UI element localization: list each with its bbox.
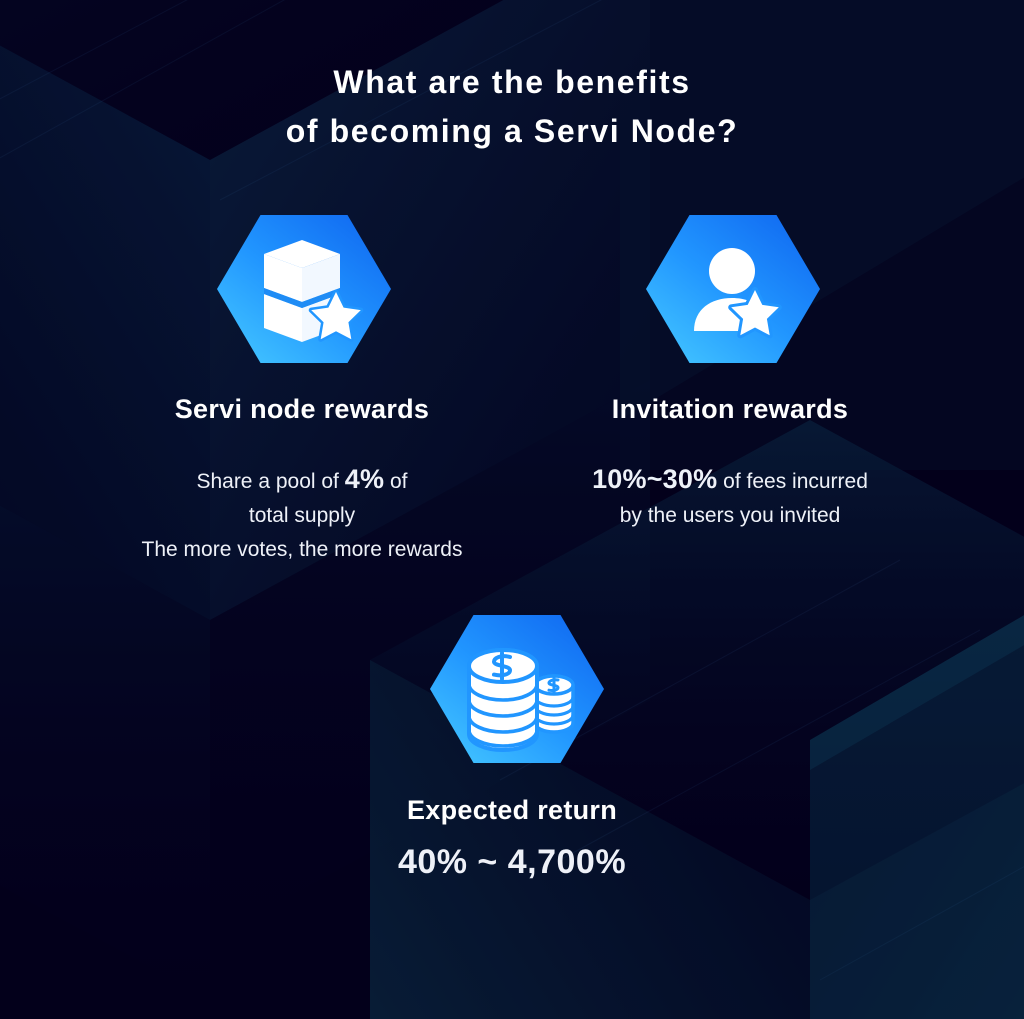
card-body-line: by the users you invited <box>428 499 1024 533</box>
infographic-canvas: What are the benefits of becoming a Serv… <box>0 0 1024 1019</box>
highlight-value: 10%~30% <box>592 464 717 494</box>
card-body-line: The more votes, the more rewards <box>0 533 604 567</box>
card-body-line: 10%~30% of fees incurred <box>428 462 1024 499</box>
coin-stack-icon <box>430 614 604 764</box>
text-fragment: Share a pool of <box>196 470 344 493</box>
highlight-value: 4% <box>345 464 384 494</box>
text-fragment: of fees incurred <box>717 470 868 493</box>
user-star-icon <box>646 214 820 364</box>
card-heading-invitation-rewards: Invitation rewards <box>428 392 1024 426</box>
page-title-line-1: What are the benefits <box>0 58 1024 107</box>
server-blocks-star-icon <box>217 214 391 364</box>
page-title: What are the benefits of becoming a Serv… <box>0 58 1024 156</box>
page-title-line-2: of becoming a Servi Node? <box>0 107 1024 156</box>
card-heading-expected-return: Expected return <box>0 793 1024 827</box>
expected-return-value: 40% ~ 4,700% <box>0 845 1024 879</box>
card-body-invitation-rewards: 10%~30% of fees incurred by the users yo… <box>428 462 1024 533</box>
card-body-expected-return: 40% ~ 4,700% <box>0 845 1024 879</box>
text-fragment: of <box>384 470 407 493</box>
